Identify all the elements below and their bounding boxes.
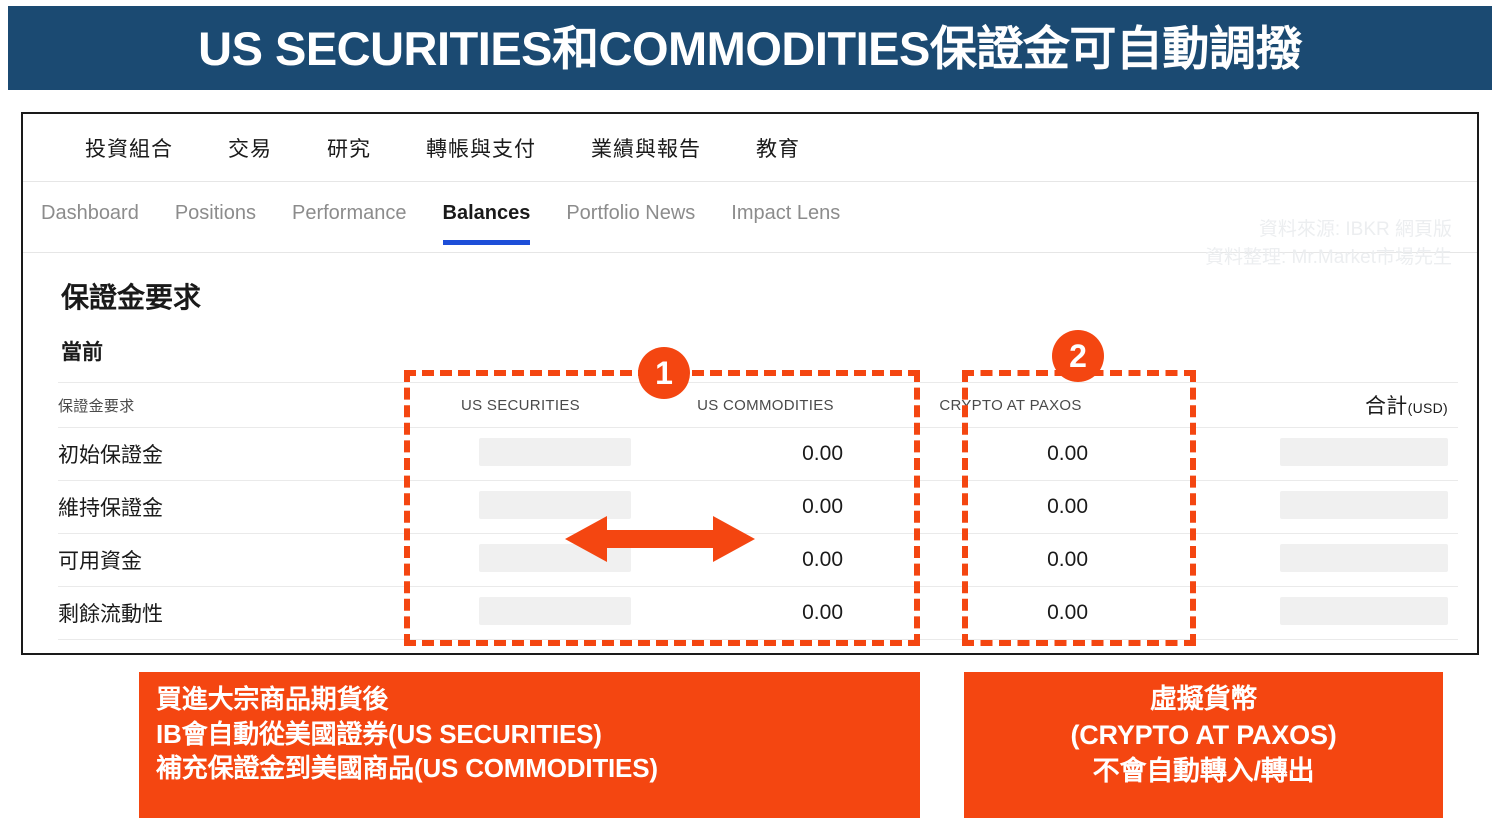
sub-navigation-tabs: Dashboard Positions Performance Balances… [23, 182, 1477, 253]
row-label-initial-margin: 初始保證金 [58, 428, 398, 481]
table-row: 維持保證金 0.00 0.00 [58, 481, 1458, 534]
table-row: 剩餘流動性 0.00 0.00 [58, 587, 1458, 640]
table-row: 初始保證金 0.00 0.00 [58, 428, 1458, 481]
callout-crypto-no-transfer: 虛擬貨幣 (CRYPTO AT PAXOS) 不會自動轉入/轉出 [964, 672, 1443, 818]
cell-maintenance-margin-us-commodities: 0.00 [643, 481, 888, 534]
margin-requirements-table: 保證金要求 US SECURITIES US COMMODITIES CRYPT… [58, 382, 1458, 640]
col-header-total-currency: (USD) [1408, 400, 1448, 416]
cell-maintenance-margin-crypto-at-paxos: 0.00 [888, 481, 1133, 534]
redacted-value [479, 597, 631, 625]
tab-impact-lens[interactable]: Impact Lens [731, 202, 840, 245]
sub-nav-items: Dashboard Positions Performance Balances… [23, 182, 1477, 252]
redacted-value [1280, 491, 1448, 519]
cell-excess-liquidity-crypto-at-paxos: 0.00 [888, 587, 1133, 640]
col-header-crypto-at-paxos: CRYPTO AT PAXOS [888, 383, 1133, 428]
table-body: 初始保證金 0.00 0.00 維持保證金 0.00 0.00 可用資金 0.0… [58, 428, 1458, 640]
cell-maintenance-margin-us-securities [398, 481, 643, 534]
callout-left-line-1: 買進大宗商品期貨後 [156, 682, 920, 717]
cell-available-funds-total [1133, 534, 1458, 587]
nav-item-trade[interactable]: 交易 [228, 133, 272, 163]
col-header-total: 合計(USD) [1133, 383, 1458, 428]
tab-positions[interactable]: Positions [175, 202, 256, 245]
redacted-value [479, 438, 631, 466]
cell-excess-liquidity-us-securities [398, 587, 643, 640]
redacted-value [1280, 544, 1448, 572]
tab-balances[interactable]: Balances [443, 202, 531, 245]
redacted-value [479, 491, 631, 519]
nav-item-education[interactable]: 教育 [756, 133, 800, 163]
section-subtitle: 當前 [61, 336, 103, 366]
col-header-us-commodities: US COMMODITIES [643, 383, 888, 428]
cell-excess-liquidity-us-commodities: 0.00 [643, 587, 888, 640]
nav-item-performance-and-reports[interactable]: 業績與報告 [591, 133, 701, 163]
title-banner: US SECURITIES和COMMODITIES保證金可自動調撥 [8, 6, 1492, 90]
callout-left-line-3: 補充保證金到美國商品(US COMMODITIES) [156, 751, 920, 786]
cell-initial-margin-us-commodities: 0.00 [643, 428, 888, 481]
table-header-row: 保證金要求 US SECURITIES US COMMODITIES CRYPT… [58, 383, 1458, 428]
cell-available-funds-crypto-at-paxos: 0.00 [888, 534, 1133, 587]
cell-initial-margin-crypto-at-paxos: 0.00 [888, 428, 1133, 481]
cell-available-funds-us-securities [398, 534, 643, 587]
row-label-available-funds: 可用資金 [58, 534, 398, 587]
cell-initial-margin-total [1133, 428, 1458, 481]
main-nav-items: 投資組合 交易 研究 轉帳與支付 業績與報告 教育 [23, 114, 1477, 181]
cell-maintenance-margin-total [1133, 481, 1458, 534]
nav-item-research[interactable]: 研究 [327, 133, 371, 163]
row-label-excess-liquidity: 剩餘流動性 [58, 587, 398, 640]
ibkr-portal-panel: 投資組合 交易 研究 轉帳與支付 業績與報告 教育 Dashboard Posi… [21, 112, 1479, 655]
main-navigation-bar: 投資組合 交易 研究 轉帳與支付 業績與報告 教育 [23, 114, 1477, 182]
nav-item-transfer-and-pay[interactable]: 轉帳與支付 [426, 133, 536, 163]
callout-right-line-2: (CRYPTO AT PAXOS) [964, 718, 1443, 754]
col-header-requirement: 保證金要求 [58, 383, 398, 428]
table-head: 保證金要求 US SECURITIES US COMMODITIES CRYPT… [58, 383, 1458, 428]
callout-right-line-1: 虛擬貨幣 [964, 682, 1443, 718]
redacted-value [479, 544, 631, 572]
cell-available-funds-us-commodities: 0.00 [643, 534, 888, 587]
redacted-value [1280, 438, 1448, 466]
page-title: US SECURITIES和COMMODITIES保證金可自動調撥 [198, 25, 1302, 72]
redacted-value [1280, 597, 1448, 625]
cell-initial-margin-us-securities [398, 428, 643, 481]
col-header-us-securities: US SECURITIES [398, 383, 643, 428]
col-header-total-main: 合計 [1365, 395, 1408, 418]
callout-left-line-2: IB會自動從美國證券(US SECURITIES) [156, 717, 920, 752]
tab-dashboard[interactable]: Dashboard [41, 202, 139, 245]
row-label-maintenance-margin: 維持保證金 [58, 481, 398, 534]
callout-auto-transfer: 買進大宗商品期貨後 IB會自動從美國證券(US SECURITIES) 補充保證… [139, 672, 920, 818]
table-row: 可用資金 0.00 0.00 [58, 534, 1458, 587]
tab-portfolio-news[interactable]: Portfolio News [566, 202, 695, 245]
nav-item-portfolio[interactable]: 投資組合 [85, 133, 173, 163]
section-title: 保證金要求 [61, 276, 201, 316]
tab-performance[interactable]: Performance [292, 202, 407, 245]
cell-excess-liquidity-total [1133, 587, 1458, 640]
callout-right-line-3: 不會自動轉入/轉出 [964, 754, 1443, 790]
